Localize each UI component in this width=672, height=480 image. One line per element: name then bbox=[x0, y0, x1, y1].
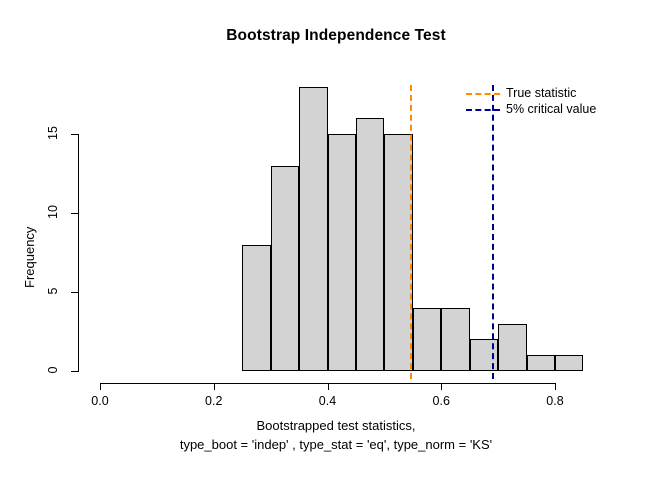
histogram-bar bbox=[498, 324, 526, 371]
x-axis-tick bbox=[555, 383, 556, 390]
legend-dash-true-statistic bbox=[466, 93, 500, 95]
y-axis-title: Frequency bbox=[22, 226, 37, 287]
histogram-bar bbox=[413, 308, 441, 371]
legend-dash-critical-value bbox=[466, 109, 500, 111]
y-axis-tick bbox=[71, 292, 79, 293]
x-axis-tick-label: 0.4 bbox=[308, 394, 348, 408]
x-axis-caption-line-1: Bootstrapped test statistics, bbox=[0, 418, 672, 433]
legend-label-true-statistic: True statistic bbox=[506, 86, 576, 100]
histogram-plot: Bootstrap Independence Test 0.00.20.40.6… bbox=[0, 0, 672, 480]
x-axis-tick-label: 0.8 bbox=[535, 394, 575, 408]
y-axis-tick bbox=[71, 371, 79, 372]
critical-value-line bbox=[492, 85, 494, 379]
x-axis-caption-line-2: type_boot = 'indep' , type_stat = 'eq', … bbox=[0, 437, 672, 452]
histogram-bar bbox=[527, 355, 555, 371]
x-axis-tick bbox=[214, 383, 215, 390]
x-axis-tick-label: 0.2 bbox=[194, 394, 234, 408]
legend-entry-critical-value: 5% critical value bbox=[466, 102, 666, 118]
y-axis-line bbox=[78, 134, 79, 371]
y-axis-tick-label: 0 bbox=[46, 355, 60, 385]
histogram-bar bbox=[328, 134, 356, 371]
plot-area: 0.00.20.40.60.8051015FrequencyBootstrapp… bbox=[0, 0, 672, 480]
histogram-bar bbox=[271, 166, 299, 371]
histogram-bar bbox=[555, 355, 583, 371]
y-axis-tick-label: 10 bbox=[46, 197, 60, 227]
x-axis-tick bbox=[100, 383, 101, 390]
legend-entry-true-statistic: True statistic bbox=[466, 86, 666, 102]
histogram-bar bbox=[299, 87, 327, 371]
histogram-bar bbox=[242, 245, 270, 371]
y-axis-tick-label: 15 bbox=[46, 118, 60, 148]
histogram-bar bbox=[441, 308, 469, 371]
y-axis-tick bbox=[71, 134, 79, 135]
true-statistic-line bbox=[410, 85, 412, 379]
x-axis-tick bbox=[328, 383, 329, 390]
x-axis-tick-label: 0.0 bbox=[80, 394, 120, 408]
legend-label-critical-value: 5% critical value bbox=[506, 102, 596, 116]
y-axis-tick bbox=[71, 213, 79, 214]
histogram-bar bbox=[384, 134, 412, 371]
y-axis-tick-label: 5 bbox=[46, 276, 60, 306]
histogram-bar bbox=[356, 118, 384, 371]
x-axis-tick-label: 0.6 bbox=[421, 394, 461, 408]
x-axis-tick bbox=[441, 383, 442, 390]
plot-legend: True statistic 5% critical value bbox=[466, 86, 666, 126]
